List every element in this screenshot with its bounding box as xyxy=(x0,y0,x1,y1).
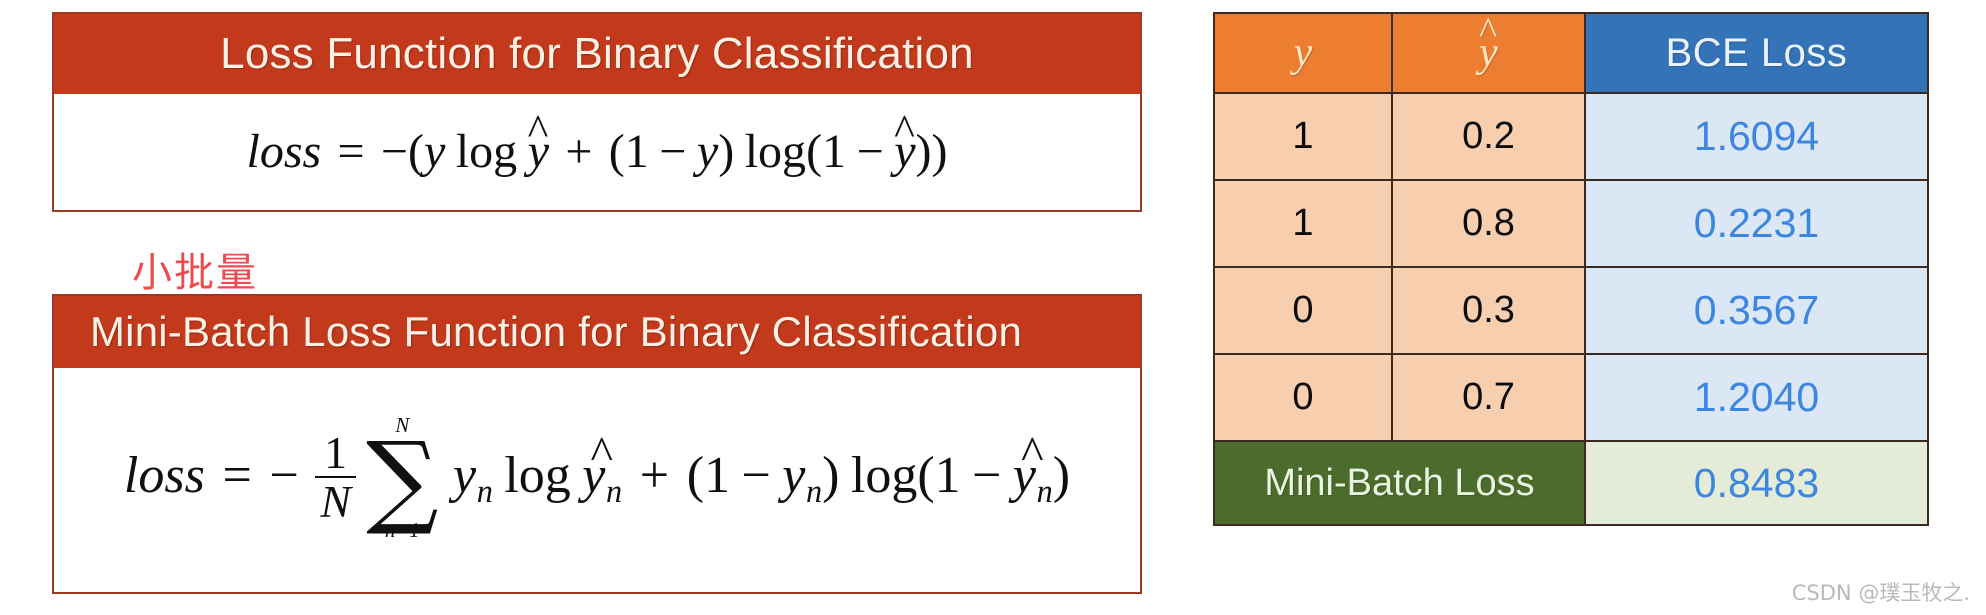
math-one-token-2: 1 xyxy=(822,125,846,178)
mb-math-y-subscript-2: n xyxy=(806,475,822,507)
math-plus-token: + xyxy=(565,125,592,178)
math-y-token: y xyxy=(424,125,445,178)
column-header-yhat: ^y xyxy=(1392,13,1585,93)
mb-math-lparen-token: ( xyxy=(687,447,704,504)
cell-yhat: 0.2 xyxy=(1392,93,1585,180)
cell-yhat: 0.7 xyxy=(1392,354,1585,441)
cell-y: 1 xyxy=(1214,93,1392,180)
loss-function-formula: loss=−(ylog^y+(1−y)log(1−^y)) xyxy=(54,94,1140,210)
math-rparen-token: ) xyxy=(718,125,734,178)
cell-y: 1 xyxy=(1214,180,1392,267)
mb-math-minus-token: − xyxy=(270,447,299,504)
mini-batch-loss-function-card-title: Mini-Batch Loss Function for Binary Clas… xyxy=(54,296,1140,368)
mb-math-lparen-token-2: ( xyxy=(917,447,934,504)
mb-math-one-token: 1 xyxy=(704,447,730,504)
math-y-token-2: y xyxy=(697,125,718,178)
math-lparen-token-3: ( xyxy=(806,125,822,178)
mb-math-y-subscript: n xyxy=(477,475,493,507)
math-minus-token-3: − xyxy=(857,125,884,178)
math-yhat-token-2: ^y xyxy=(894,128,915,176)
cell-y: 0 xyxy=(1214,267,1392,354)
math-hat-accent-2: ^ xyxy=(894,109,915,153)
math-minus-token: − xyxy=(381,125,408,178)
csdn-watermark: CSDN @璞玉牧之. xyxy=(1792,577,1970,607)
mb-math-minus-token-3: − xyxy=(972,447,1001,504)
mb-math-y-base-2: y xyxy=(782,447,805,504)
column-header-hat-accent: ^ xyxy=(1479,13,1497,52)
cell-bce: 0.2231 xyxy=(1585,180,1928,267)
mb-math-one-token-2: 1 xyxy=(935,447,961,504)
math-log-token: log xyxy=(456,125,517,178)
table-total-row: Mini-Batch Loss 0.8483 xyxy=(1214,441,1928,525)
chinese-annotation-mini-batch: 小批量 xyxy=(132,240,258,298)
mini-batch-loss-function-card: Mini-Batch Loss Function for Binary Clas… xyxy=(52,294,1142,594)
cell-bce: 0.3567 xyxy=(1585,267,1928,354)
sigma-icon: ∑ xyxy=(366,436,438,523)
loss-function-card: Loss Function for Binary Classification … xyxy=(52,12,1142,212)
math-lparen-token: ( xyxy=(408,125,424,178)
mb-math-log-token-2: log xyxy=(851,447,917,504)
column-header-y: y xyxy=(1214,13,1392,93)
mini-batch-loss-value: 0.8483 xyxy=(1585,441,1928,525)
fraction-denominator: N xyxy=(315,476,356,526)
mb-math-hat-accent-2: ^ xyxy=(1021,430,1043,478)
column-header-bce-loss: BCE Loss xyxy=(1585,13,1928,93)
cell-bce: 1.6094 xyxy=(1585,93,1928,180)
math-rparen-token-3: ) xyxy=(932,125,948,178)
math-hat-accent: ^ xyxy=(528,109,549,153)
mb-math-yn-token: yn xyxy=(453,447,493,504)
math-log-token-2: log xyxy=(745,125,806,178)
mb-math-yn-token-2: yn xyxy=(782,447,822,504)
bce-loss-table: y ^y BCE Loss 1 0.2 1.6094 1 0.8 0.2231 … xyxy=(1213,12,1929,526)
loss-function-card-title: Loss Function for Binary Classification xyxy=(54,14,1140,94)
cell-yhat: 0.3 xyxy=(1392,267,1585,354)
mini-batch-loss-formula: loss=−1NN∑n=1ynlog^yn+(1−yn)log(1−^yn) xyxy=(54,368,1140,592)
math-loss-token: loss xyxy=(246,125,321,178)
mb-math-y-base: y xyxy=(453,447,476,504)
mb-math-yhat-subscript-2: n xyxy=(1037,475,1053,507)
table-header-row: y ^y BCE Loss xyxy=(1214,13,1928,93)
math-lparen-token-2: ( xyxy=(609,125,625,178)
column-header-bce-loss-label: BCE Loss xyxy=(1666,31,1848,75)
mb-math-loss-token: loss xyxy=(124,447,205,504)
math-minus-token-2: − xyxy=(659,125,686,178)
mini-batch-loss-label: Mini-Batch Loss xyxy=(1214,441,1585,525)
cell-bce: 1.2040 xyxy=(1585,354,1928,441)
formula-panel-group: Loss Function for Binary Classification … xyxy=(52,12,1142,602)
table-row: 0 0.3 0.3567 xyxy=(1214,267,1928,354)
mb-math-yhatn-token: ^yn xyxy=(582,450,622,508)
mb-math-equals-token: = xyxy=(223,447,252,504)
mb-math-yhat-subscript: n xyxy=(606,475,622,507)
mb-math-rparen-token: ) xyxy=(822,447,839,504)
mb-math-rparen-token-2: ) xyxy=(1053,447,1070,504)
cell-yhat: 0.8 xyxy=(1392,180,1585,267)
fraction-numerator: 1 xyxy=(315,430,356,476)
cell-y: 0 xyxy=(1214,354,1392,441)
math-rparen-token-2: ) xyxy=(916,125,932,178)
table-row: 0 0.7 1.2040 xyxy=(1214,354,1928,441)
math-one-token: 1 xyxy=(625,125,649,178)
one-over-n-fraction: 1N xyxy=(315,430,356,526)
mb-math-log-token: log xyxy=(504,447,570,504)
mb-math-yhatn-token-2: ^yn xyxy=(1013,450,1053,508)
column-header-yhat-label: ^y xyxy=(1479,29,1498,77)
mb-math-minus-token-2: − xyxy=(742,447,771,504)
mb-math-plus-token: + xyxy=(640,447,669,504)
mb-math-hat-accent: ^ xyxy=(590,430,612,478)
math-yhat-token: ^y xyxy=(528,128,549,176)
column-header-y-label: y xyxy=(1294,30,1313,76)
table-row: 1 0.2 1.6094 xyxy=(1214,93,1928,180)
math-equals-token: = xyxy=(338,125,365,178)
summation-operator: N∑n=1 xyxy=(366,415,438,543)
table-row: 1 0.8 0.2231 xyxy=(1214,180,1928,267)
